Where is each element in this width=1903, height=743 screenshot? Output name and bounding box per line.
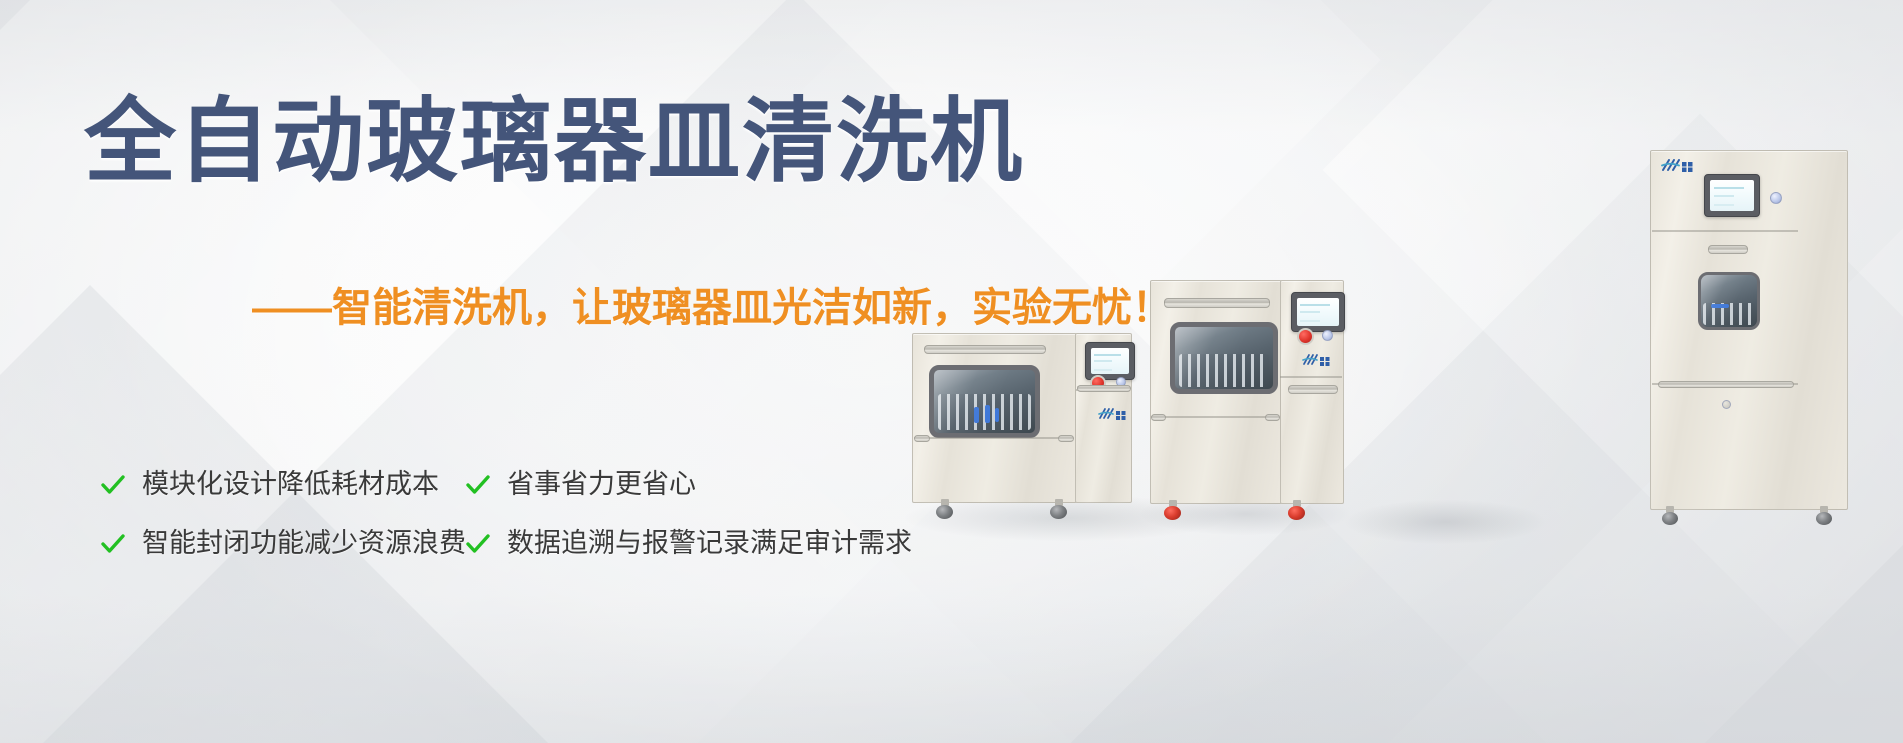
caster-wheel (1164, 500, 1181, 520)
banner-headline: 全自动玻璃器皿清洗机 (84, 96, 1024, 188)
caster-wheel (1050, 499, 1067, 519)
caster-wheel (1662, 506, 1678, 525)
check-icon (100, 472, 126, 498)
brand-logo (1302, 353, 1332, 367)
start-button (1116, 377, 1126, 387)
hmi-touchscreen (1291, 292, 1345, 332)
feature-item: 数据追溯与报警记录满足审计需求 (465, 529, 912, 559)
product-image-tall-chamber-washer (1650, 150, 1850, 522)
hmi-touchscreen (1704, 174, 1760, 217)
emergency-stop-button (1090, 375, 1106, 391)
indicator-light (1770, 192, 1782, 204)
brand-logo (1661, 158, 1695, 173)
banner-subheadline: ——智能清洗机，让玻璃器皿光洁如新，实验无忧！ (252, 288, 1172, 328)
feature-row: 智能封闭功能减少资源浪费 数据追溯与报警记录满足审计需求 (100, 529, 980, 559)
emergency-stop-button (1297, 328, 1314, 345)
feature-label: 智能封闭功能减少资源浪费 (142, 529, 466, 559)
check-icon (465, 472, 491, 498)
machine-shadow (1140, 493, 1350, 535)
feature-label: 模块化设计降低耗材成本 (142, 470, 439, 500)
brand-logo (1098, 407, 1128, 421)
feature-item: 模块化设计降低耗材成本 (100, 470, 465, 500)
feature-row: 模块化设计降低耗材成本 省事省力更省心 (100, 470, 980, 500)
start-button (1322, 330, 1333, 341)
feature-item: 智能封闭功能减少资源浪费 (100, 529, 465, 559)
hmi-touchscreen (1085, 342, 1135, 380)
machine-shadow (1345, 500, 1545, 544)
base-latch (1722, 400, 1731, 409)
feature-label: 数据追溯与报警记录满足审计需求 (507, 529, 912, 559)
product-banner: 全自动玻璃器皿清洗机 ——智能清洗机，让玻璃器皿光洁如新，实验无忧！ 模块化设计… (0, 0, 1903, 743)
check-icon (465, 531, 491, 557)
caster-wheel (1816, 506, 1832, 525)
feature-list: 模块化设计降低耗材成本 省事省力更省心 智能封闭功能减少资源浪费 数据追溯 (100, 470, 980, 587)
product-image-freestanding-washer (1150, 280, 1342, 518)
check-icon (100, 531, 126, 557)
caster-wheel (1288, 500, 1305, 520)
feature-label: 省事省力更省心 (507, 470, 696, 500)
feature-item: 省事省力更省心 (465, 470, 696, 500)
